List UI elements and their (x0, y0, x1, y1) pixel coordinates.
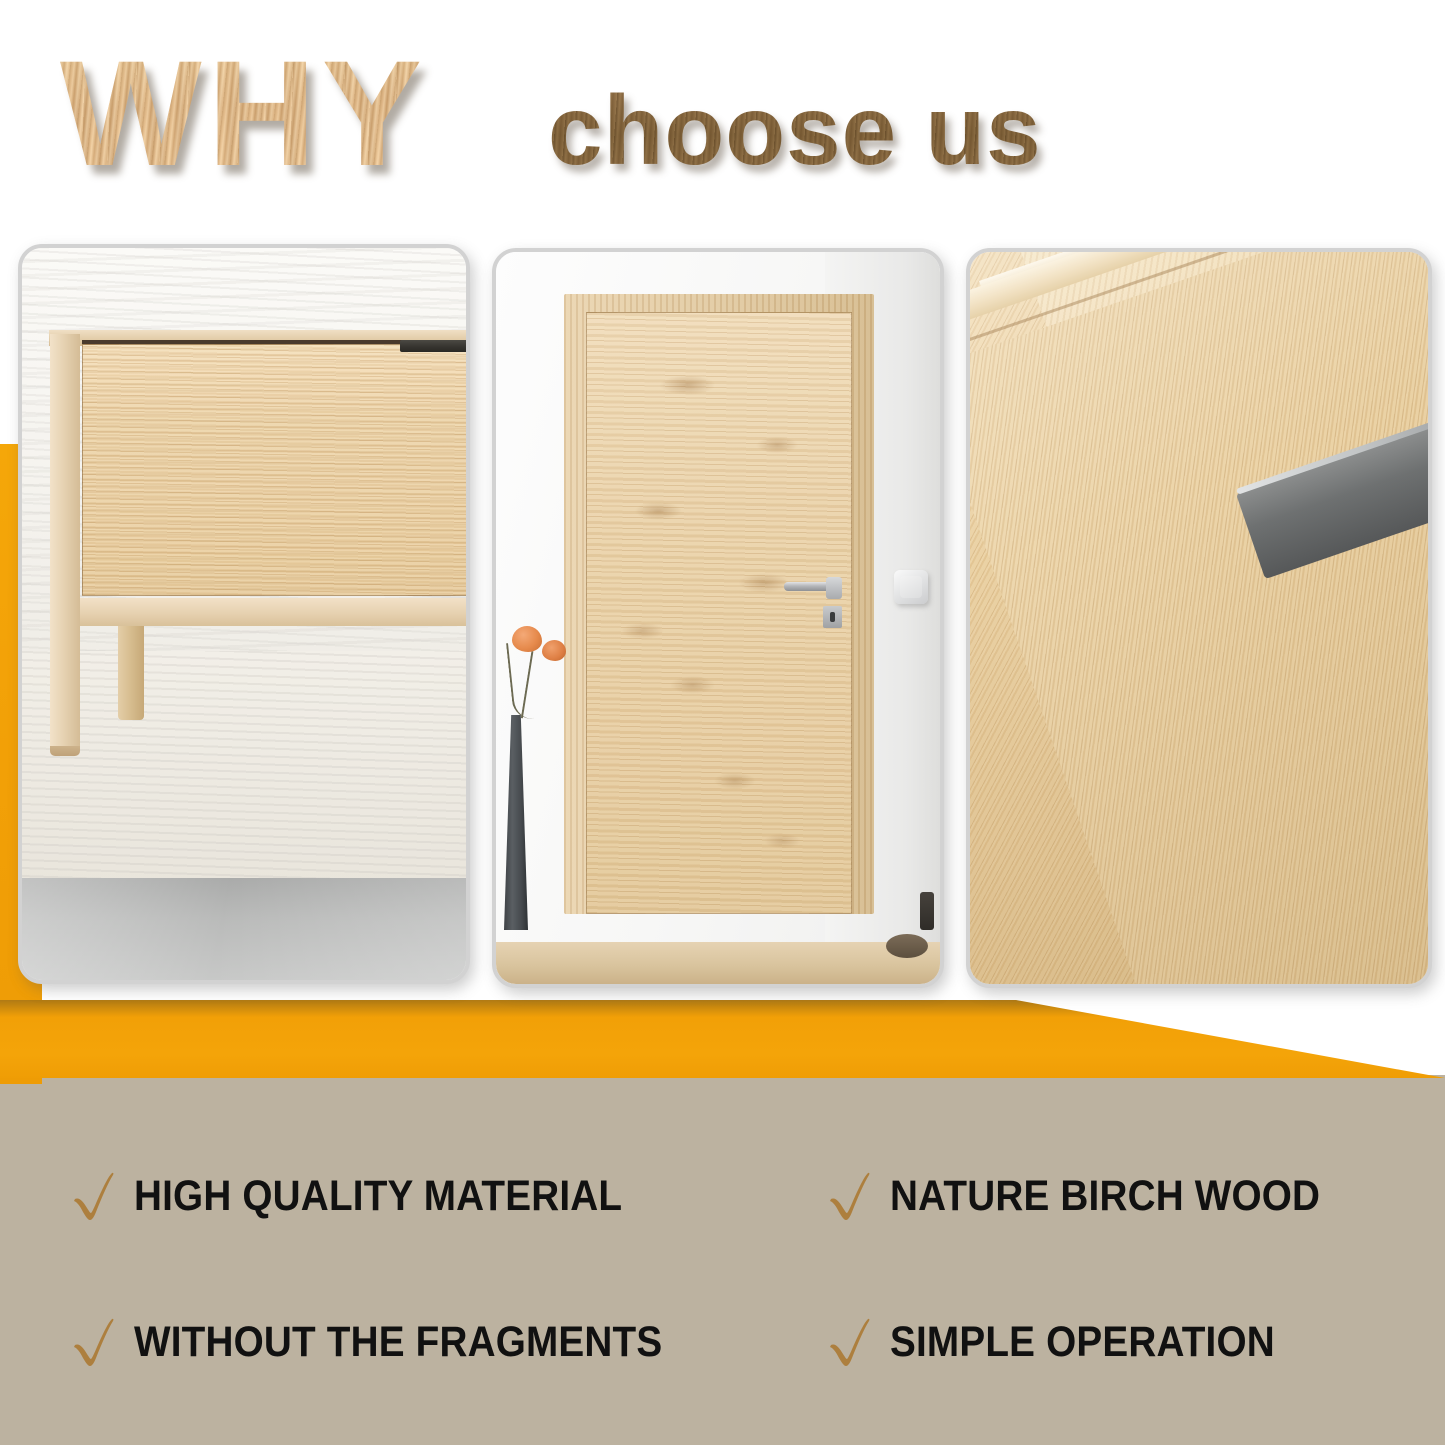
floor-reflection (22, 878, 466, 980)
check-icon (828, 1316, 872, 1368)
keyhole-icon (830, 612, 835, 622)
accent-bar-bottom (0, 1000, 1445, 1078)
floor-object (920, 892, 934, 930)
photo-panel-oak-interior-door (492, 248, 944, 988)
floor-skirting (496, 942, 940, 984)
feature-label: NATURE BIRCH WOOD (890, 1173, 1320, 1219)
wall-lower-surface (22, 651, 466, 885)
feature-item-without-the-fragments: WITHOUT THE FRAGMENTS (72, 1309, 721, 1375)
scene-sideboard (22, 248, 466, 980)
photo-panel-group (0, 0, 1445, 1000)
features-grid: HIGH QUALITY MATERIAL NATURE BIRCH WOOD … (0, 1075, 1445, 1445)
poppy-flower (542, 640, 566, 661)
check-icon (72, 1170, 116, 1222)
photo-panel-drawer-edge-macro (966, 248, 1432, 988)
scene-drawer-macro (970, 252, 1428, 984)
feature-label: WITHOUT THE FRAGMENTS (134, 1319, 662, 1365)
check-icon (72, 1316, 116, 1368)
door-handle-rose (826, 577, 842, 599)
feature-item-high-quality-material: HIGH QUALITY MATERIAL (72, 1163, 676, 1229)
feature-item-nature-birch-wood: NATURE BIRCH WOOD (828, 1163, 1368, 1229)
floor-object (886, 934, 928, 958)
drawer-front-panel (82, 344, 467, 596)
check-icon (828, 1170, 872, 1222)
scene-door (496, 252, 940, 984)
cabinet-right-leg (118, 626, 144, 720)
drawer-bar-handle (400, 340, 468, 352)
door-leaf (586, 312, 852, 914)
cabinet-bottom-rail (80, 598, 470, 626)
photo-panel-birch-sideboard-cabinet (18, 244, 470, 984)
cabinet-left-post (50, 334, 80, 749)
feature-item-simple-operation: SIMPLE OPERATION (828, 1309, 1318, 1375)
feature-label: HIGH QUALITY MATERIAL (134, 1173, 622, 1219)
feature-label: SIMPLE OPERATION (890, 1319, 1275, 1365)
features-section: HIGH QUALITY MATERIAL NATURE BIRCH WOOD … (0, 1075, 1445, 1445)
why-choose-us-infographic: WHY choose us (0, 0, 1445, 1445)
cabinet-left-foot (50, 746, 80, 756)
light-switch-rocker (900, 576, 922, 598)
scene-shading (970, 252, 1428, 984)
poppy-flower (512, 626, 542, 652)
